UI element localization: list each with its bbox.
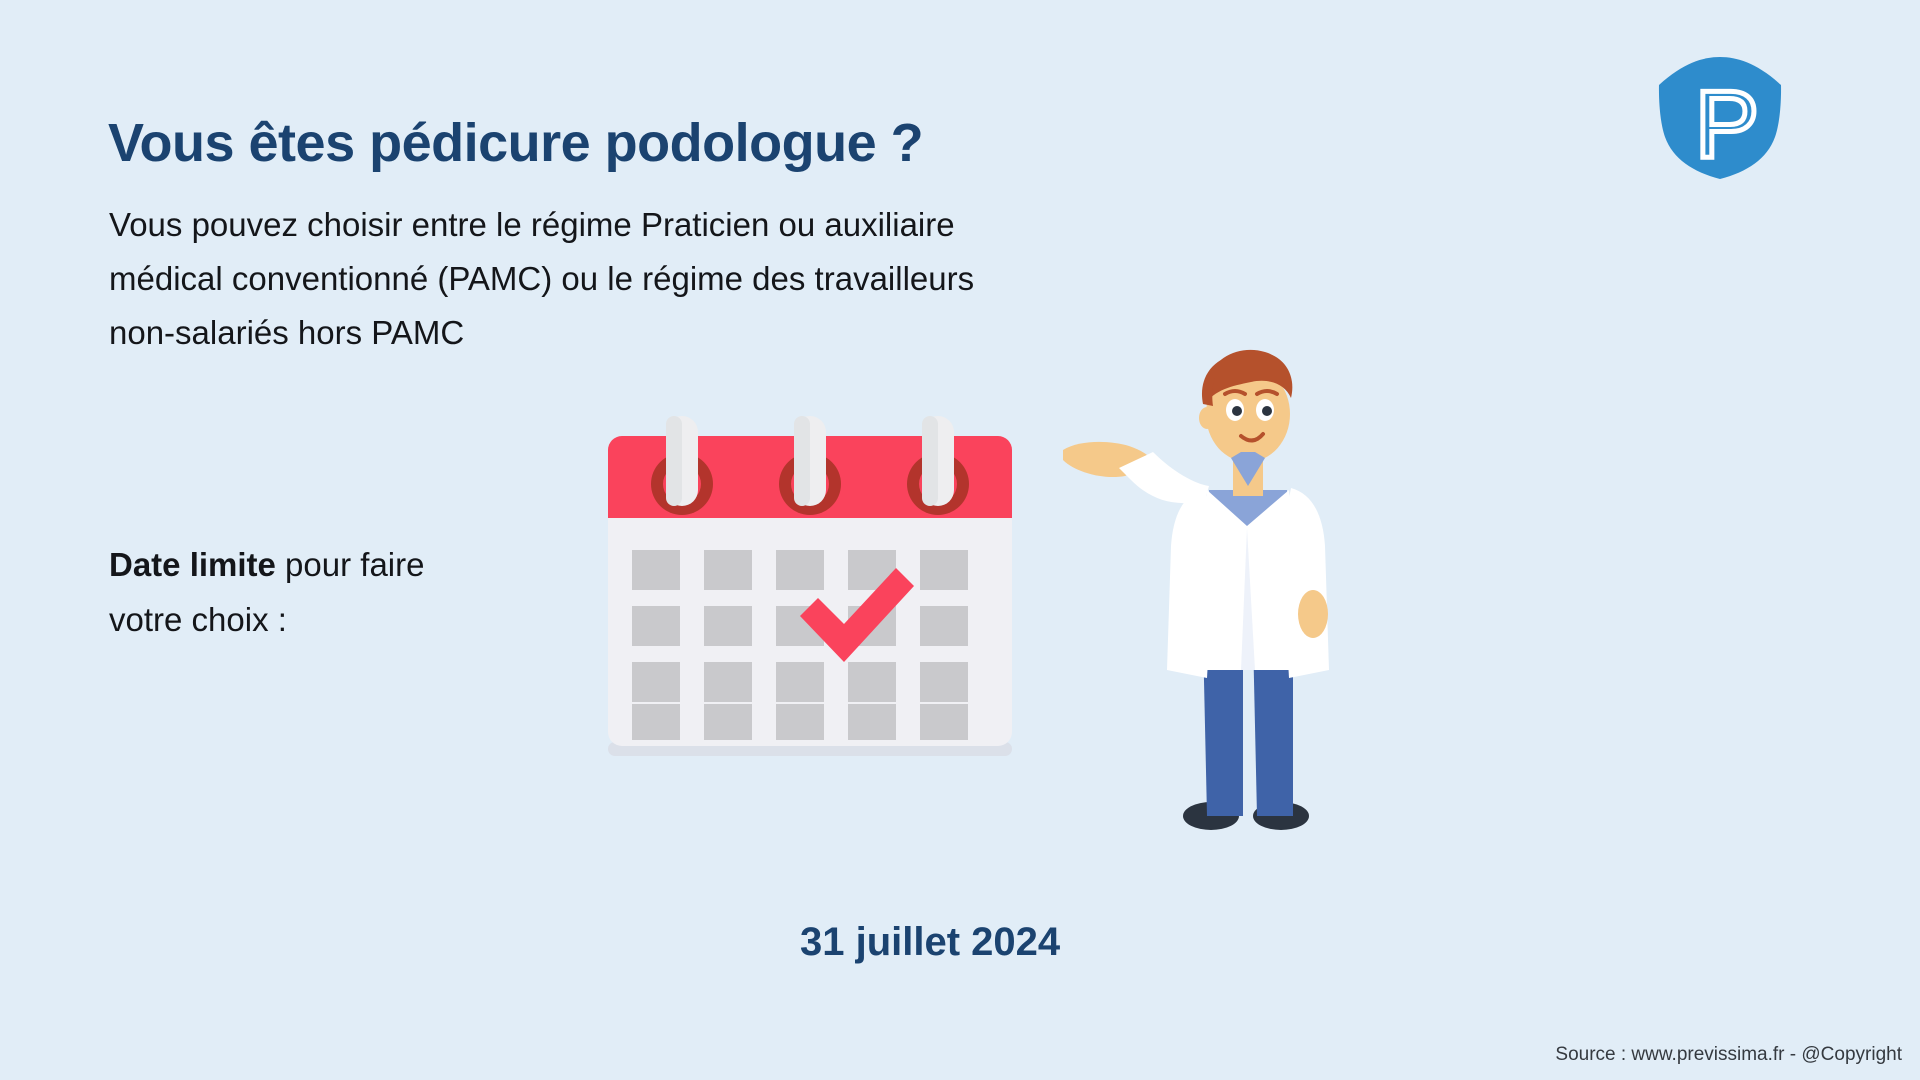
deadline-label-line-2: votre choix :	[109, 592, 424, 647]
calendar-cell	[776, 662, 824, 702]
logo-letter: P	[1695, 71, 1759, 178]
character-pupil-left	[1232, 406, 1242, 416]
intro-line-2: médical conventionné (PAMC) ou le régime…	[109, 252, 1109, 306]
calendar-cell	[704, 662, 752, 702]
character-ear	[1199, 407, 1215, 429]
calendar-icon	[600, 430, 1020, 760]
calendar-cell	[704, 704, 752, 740]
deadline-label-line-1: Date limite pour faire	[109, 537, 424, 592]
calendar-illustration	[600, 430, 1020, 760]
deadline-label-strong: Date limite	[109, 546, 276, 583]
calendar-cell	[704, 606, 752, 646]
calendar-cell	[632, 704, 680, 740]
intro-line-3: non-salariés hors PAMC	[109, 306, 1109, 360]
deadline-date: 31 juillet 2024	[800, 920, 1060, 965]
calendar-cell	[632, 550, 680, 590]
calendar-binder-1-shade	[666, 416, 682, 506]
calendar-cell	[920, 606, 968, 646]
previssima-logo: P	[1655, 55, 1785, 180]
calendar-cell	[848, 704, 896, 740]
calendar-cell	[848, 662, 896, 702]
calendar-cell	[632, 662, 680, 702]
doctor-character-illustration	[1055, 340, 1385, 860]
intro-line-1: Vous pouvez choisir entre le régime Prat…	[109, 198, 1109, 252]
source-credit: Source : www.previssima.fr - @Copyright	[1555, 1044, 1902, 1066]
calendar-cell	[776, 704, 824, 740]
calendar-cell	[920, 704, 968, 740]
calendar-cell	[920, 550, 968, 590]
calendar-binder-2-shade	[794, 416, 810, 506]
deadline-label-rest: pour faire	[276, 546, 425, 583]
calendar-cell	[920, 662, 968, 702]
calendar-binder-3-shade	[922, 416, 938, 506]
character-hand-right	[1298, 590, 1328, 638]
calendar-cell	[776, 550, 824, 590]
infographic-canvas: Vous êtes pédicure podologue ? Vous pouv…	[0, 0, 1920, 1080]
shield-icon: P	[1655, 55, 1785, 180]
doctor-icon	[1055, 340, 1385, 860]
character-pupil-right	[1262, 406, 1272, 416]
intro-paragraph: Vous pouvez choisir entre le régime Prat…	[109, 198, 1109, 360]
calendar-cell	[704, 550, 752, 590]
deadline-label: Date limite pour faire votre choix :	[109, 537, 424, 647]
page-title: Vous êtes pédicure podologue ?	[108, 112, 923, 174]
calendar-cell	[632, 606, 680, 646]
